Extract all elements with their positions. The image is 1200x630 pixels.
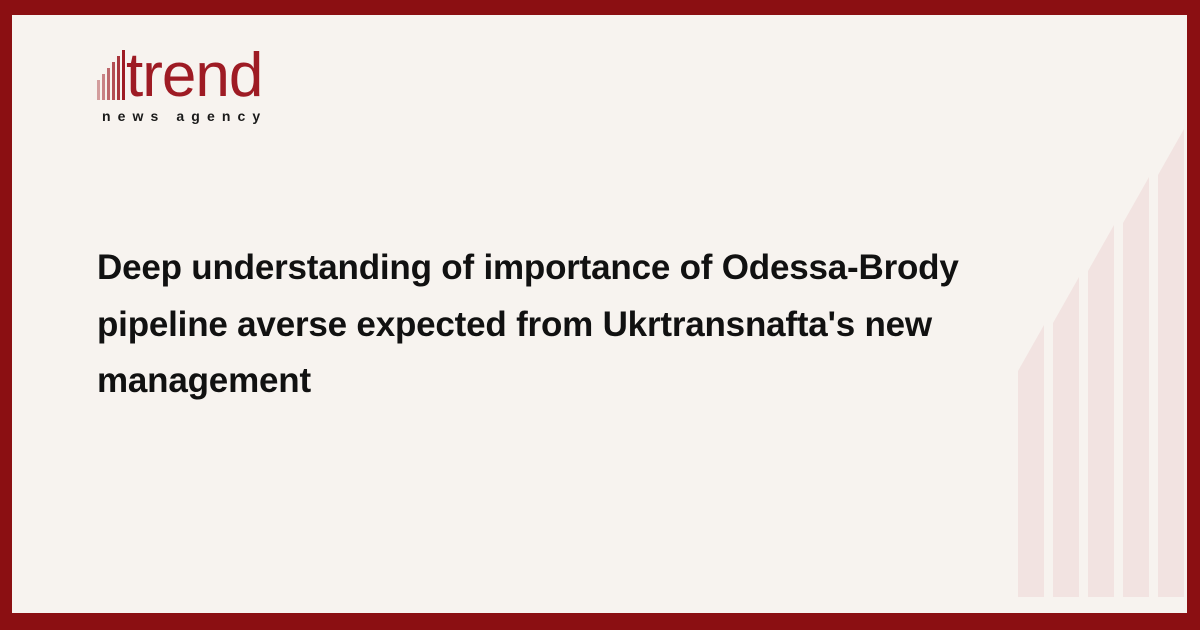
decoration-bar (1088, 225, 1114, 597)
social-share-card: trend news agency Deep understanding of … (0, 0, 1200, 630)
trend-news-agency-logo[interactable]: trend news agency (97, 44, 357, 124)
logo-wordmark-row: trend (97, 44, 357, 102)
logo-wordmark: trend (126, 51, 262, 102)
decoration-bar (1158, 129, 1184, 597)
decoration-bar (1123, 177, 1149, 597)
card-canvas: trend news agency Deep understanding of … (12, 15, 1187, 613)
logo-tagline: news agency (102, 108, 357, 124)
ascending-bars-icon (97, 52, 125, 100)
article-headline: Deep understanding of importance of Odes… (97, 240, 1052, 410)
decoration-bar (1053, 277, 1079, 597)
